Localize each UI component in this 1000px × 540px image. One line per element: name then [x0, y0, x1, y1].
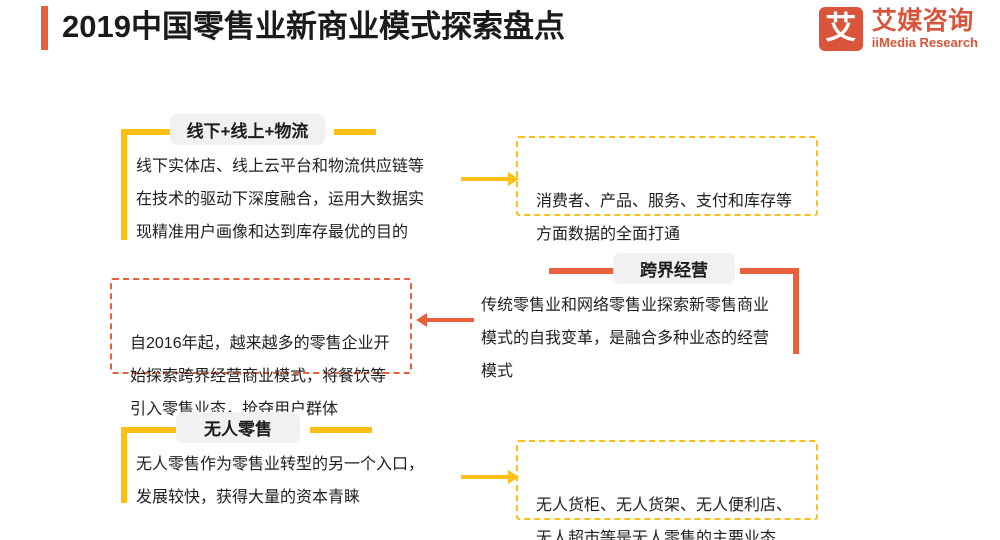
section3-arrow-right-icon: [461, 470, 519, 484]
logo-mark-icon: 艾: [819, 7, 863, 51]
section2-result-box: 自2016年起，越来越多的零售企业开 始探索跨界经营商业模式，将餐饮等 引入零售…: [110, 278, 412, 374]
section2-arrow-left-icon: [416, 313, 474, 327]
section1-label: 线下+线上+物流: [187, 117, 309, 142]
logo-text-block: 艾媒咨询 iiMedia Research: [872, 8, 978, 51]
section3-bracket-top-right: [310, 427, 372, 433]
section3-body: 无人零售作为零售业转型的另一个入口， 发展较快，获得大量的资本青睐: [136, 448, 466, 514]
section3-result-box: 无人货柜、无人货架、无人便利店、 无人超市等是无人零售的主要业态: [516, 440, 818, 520]
section1-bracket-top-left: [121, 129, 180, 135]
logo-mark-glyph: 艾: [819, 14, 863, 45]
section2-bracket-vertical: [793, 268, 799, 354]
logo-name-en: iiMedia Research: [872, 35, 978, 51]
section2-label: 跨界经营: [640, 256, 708, 281]
section2-bracket-top-left: [549, 268, 613, 274]
section2-label-pill: 跨界经营: [613, 253, 735, 284]
section3-label-pill: 无人零售: [176, 412, 300, 443]
section-cross-border-operation: 跨界经营 传统零售业和网络零售业探索新零售商业 模式的自我变革，是融合多种业态的…: [0, 0, 1000, 540]
section3-result-text: 无人货柜、无人货架、无人便利店、 无人超市等是无人零售的主要业态: [536, 497, 792, 540]
page-title: 2019中国零售业新商业模式探索盘点: [62, 4, 565, 50]
title-accent-bar: [41, 6, 48, 50]
brand-logo: 艾 艾媒咨询 iiMedia Research: [819, 7, 978, 51]
section1-body: 线下实体店、线上云平台和物流供应链等 在技术的驱动下深度融合，运用大数据实 现精…: [136, 150, 466, 249]
section1-result-box: 消费者、产品、服务、支付和库存等 方面数据的全面打通: [516, 136, 818, 216]
section2-result-text: 自2016年起，越来越多的零售企业开 始探索跨界经营商业模式，将餐饮等 引入零售…: [130, 335, 390, 418]
section3-bracket-vertical: [121, 427, 127, 503]
section-online-offline-logistics: 线下+线上+物流 线下实体店、线上云平台和物流供应链等 在技术的驱动下深度融合，…: [0, 0, 1000, 540]
section1-bracket-top-right: [334, 129, 376, 135]
section3-label: 无人零售: [204, 415, 272, 440]
section3-bracket-top-left: [121, 427, 180, 433]
slide-canvas: 2019中国零售业新商业模式探索盘点 艾 艾媒咨询 iiMedia Resear…: [0, 0, 1000, 540]
logo-name-cn: 艾媒咨询: [872, 8, 978, 35]
section2-body: 传统零售业和网络零售业探索新零售商业 模式的自我变革，是融合多种业态的经营 模式: [481, 289, 791, 388]
section1-result-text: 消费者、产品、服务、支付和库存等 方面数据的全面打通: [536, 193, 792, 243]
section2-bracket-top-right: [740, 268, 799, 274]
section1-arrow-right-icon: [461, 172, 519, 186]
section1-bracket-vertical: [121, 129, 127, 240]
section-unmanned-retail: 无人零售 无人零售作为零售业转型的另一个入口， 发展较快，获得大量的资本青睐 无…: [0, 0, 1000, 540]
section1-label-pill: 线下+线上+物流: [170, 114, 325, 145]
